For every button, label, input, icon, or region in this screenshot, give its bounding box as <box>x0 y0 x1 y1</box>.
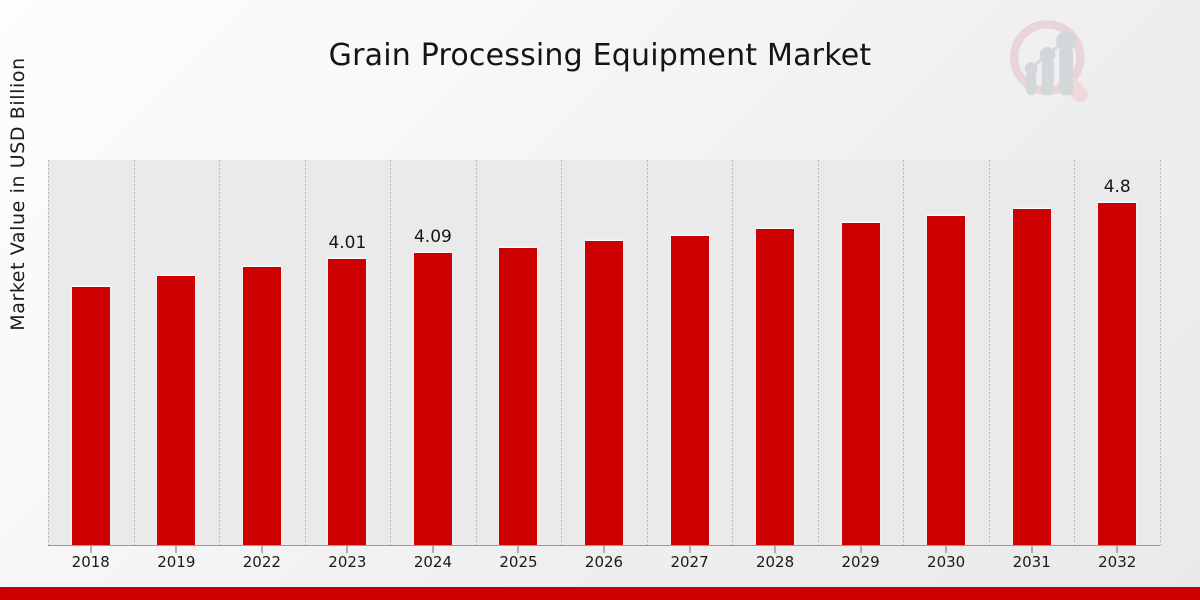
bar-2028[interactable] <box>756 228 794 545</box>
x-tick <box>261 546 262 553</box>
x-tick-label-2026: 2026 <box>585 553 623 571</box>
x-tick <box>775 546 776 553</box>
bar-2027[interactable] <box>671 235 709 545</box>
x-tick <box>860 546 861 553</box>
x-tick <box>1031 546 1032 553</box>
x-tick <box>1117 546 1118 553</box>
x-tick-label-2023: 2023 <box>328 553 366 571</box>
market-research-logo <box>1004 16 1096 112</box>
bar-2026[interactable] <box>585 240 623 545</box>
x-tick <box>689 546 690 553</box>
x-tick-label-2022: 2022 <box>243 553 281 571</box>
bar-2025[interactable] <box>499 247 537 545</box>
x-tick <box>946 546 947 553</box>
bar-group[interactable]: 4.8 <box>1074 160 1160 545</box>
x-tick <box>432 546 433 553</box>
x-tick-label-2019: 2019 <box>157 553 195 571</box>
x-tick-label-2030: 2030 <box>927 553 965 571</box>
x-tick <box>518 546 519 553</box>
bar-group[interactable] <box>818 160 904 545</box>
x-tick-label-2028: 2028 <box>756 553 794 571</box>
x-tick <box>90 546 91 553</box>
bar-2032[interactable] <box>1098 202 1136 545</box>
plot-area: 4.014.094.8 <box>48 160 1160 545</box>
bar-group[interactable]: 4.09 <box>390 160 476 545</box>
x-tick <box>604 546 605 553</box>
bar-group[interactable] <box>989 160 1075 545</box>
x-axis-ticks <box>48 546 1160 553</box>
bar-group[interactable] <box>219 160 305 545</box>
grid-line <box>1160 160 1161 545</box>
bar-group[interactable] <box>134 160 220 545</box>
bar-group[interactable] <box>647 160 733 545</box>
bar-2030[interactable] <box>927 215 965 545</box>
bar-2031[interactable] <box>1013 208 1051 545</box>
x-tick <box>176 546 177 553</box>
bar-2023[interactable] <box>328 258 366 545</box>
bar-group[interactable] <box>48 160 134 545</box>
bar-group[interactable] <box>903 160 989 545</box>
x-tick-label-2027: 2027 <box>670 553 708 571</box>
bar-2022[interactable] <box>243 266 281 545</box>
y-axis-label: Market Value in USD Billion <box>7 0 29 394</box>
bar-group[interactable] <box>561 160 647 545</box>
x-tick-label-2029: 2029 <box>842 553 880 571</box>
x-tick-label-2031: 2031 <box>1013 553 1051 571</box>
bar-2024[interactable] <box>414 252 452 545</box>
footer-accent-bar <box>0 587 1200 600</box>
x-axis-tick-labels: 2018201920222023202420252026202720282029… <box>48 553 1160 577</box>
bar-value-label-2024: 4.09 <box>414 227 452 247</box>
x-tick-label-2018: 2018 <box>72 553 110 571</box>
bar-series: 4.014.094.8 <box>48 160 1160 545</box>
bar-group[interactable]: 4.01 <box>305 160 391 545</box>
x-tick-label-2024: 2024 <box>414 553 452 571</box>
x-tick-label-2025: 2025 <box>499 553 537 571</box>
bar-2018[interactable] <box>72 286 110 545</box>
bar-group[interactable] <box>476 160 562 545</box>
chart-figure: Grain Processing Equipment Market Market… <box>0 0 1200 600</box>
bar-2029[interactable] <box>842 222 880 545</box>
bar-value-label-2032: 4.8 <box>1104 177 1131 197</box>
x-tick-label-2032: 2032 <box>1098 553 1136 571</box>
x-tick <box>347 546 348 553</box>
bar-group[interactable] <box>732 160 818 545</box>
bar-2019[interactable] <box>157 275 195 546</box>
bar-value-label-2023: 4.01 <box>328 233 366 253</box>
